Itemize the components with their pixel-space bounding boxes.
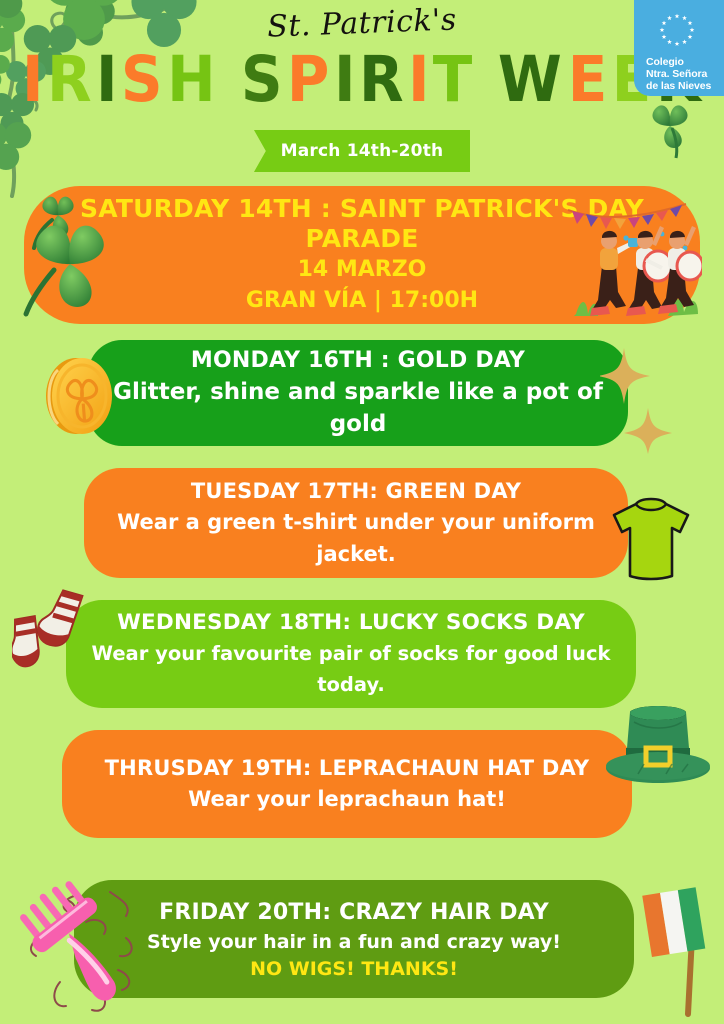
- event-card-thursday-leprechaun-hat-day[interactable]: THRUSDAY 19TH: LEPRACHAUN HAT DAY Wear y…: [62, 730, 632, 838]
- event-line-1: Style your hair in a fun and crazy way!: [147, 928, 561, 956]
- poster-canvas: St. Patrick's IRISHSPIRITWEEK March 14th…: [0, 0, 724, 1024]
- event-line-1: 14 MARZO: [298, 254, 427, 285]
- title-letter: I: [408, 48, 430, 111]
- title-letter: R: [359, 48, 405, 111]
- badge-line-2: Ntra. Señora: [644, 69, 718, 81]
- event-title: FRIDAY 20TH: CRAZY HAIR DAY: [159, 897, 549, 928]
- title-letter: T: [433, 48, 473, 111]
- event-title: WEDNESDAY 18TH: LUCKY SOCKS DAY: [117, 608, 585, 638]
- title-letter: S: [121, 48, 164, 111]
- eu-star: [660, 14, 695, 46]
- page-title: IRISHSPIRITWEEK: [0, 48, 724, 111]
- title-letter: P: [287, 48, 330, 111]
- event-line-1: Wear your favourite pair of socks for go…: [66, 638, 636, 700]
- title-letter: I: [95, 48, 117, 111]
- event-line-1: Glitter, shine and sparkle like a pot of…: [88, 376, 628, 440]
- date-ribbon-label: March 14th-20th: [281, 141, 444, 161]
- irish-flag-icon: [638, 876, 720, 1024]
- eu-stars-circle-icon: [652, 10, 702, 50]
- event-note: NO WIGS! THANKS!: [250, 956, 458, 982]
- event-title: TUESDAY 17TH: GREEN DAY: [191, 476, 521, 506]
- event-card-monday-gold-day[interactable]: MONDAY 16TH : GOLD DAY Glitter, shine an…: [88, 340, 628, 446]
- event-card-friday-crazy-hair-day[interactable]: FRIDAY 20TH: CRAZY HAIR DAY Style your h…: [74, 880, 634, 998]
- title-letter: S: [241, 48, 284, 111]
- event-title: THRUSDAY 19TH: LEPRACHAUN HAT DAY: [105, 753, 590, 783]
- title-letter: W: [498, 48, 563, 111]
- event-card-wednesday-lucky-socks-day[interactable]: WEDNESDAY 18TH: LUCKY SOCKS DAY Wear you…: [66, 600, 636, 708]
- title-letter: I: [22, 48, 44, 111]
- event-title: SATURDAY 14TH : SAINT PATRICK'S DAY PARA…: [24, 194, 700, 254]
- event-line-1: Wear a green t-shirt under your uniform …: [84, 506, 628, 570]
- event-line-2: GRAN VÍA | 17:00H: [246, 285, 478, 316]
- event-card-saturday-parade[interactable]: SATURDAY 14TH : SAINT PATRICK'S DAY PARA…: [24, 186, 700, 324]
- school-badge: Colegio Ntra. Señora de las Nieves: [634, 0, 724, 96]
- event-title: MONDAY 16TH : GOLD DAY: [191, 346, 525, 376]
- badge-line-3: de las Nieves: [644, 81, 718, 93]
- title-letter: R: [47, 48, 93, 111]
- title-letter: E: [567, 48, 608, 111]
- event-card-tuesday-green-day[interactable]: TUESDAY 17TH: GREEN DAY Wear a green t-s…: [84, 468, 628, 578]
- title-letter: I: [334, 48, 356, 111]
- title-letter: H: [167, 48, 216, 111]
- date-ribbon: March 14th-20th: [254, 130, 470, 172]
- event-line-1: Wear your leprachaun hat!: [188, 783, 506, 815]
